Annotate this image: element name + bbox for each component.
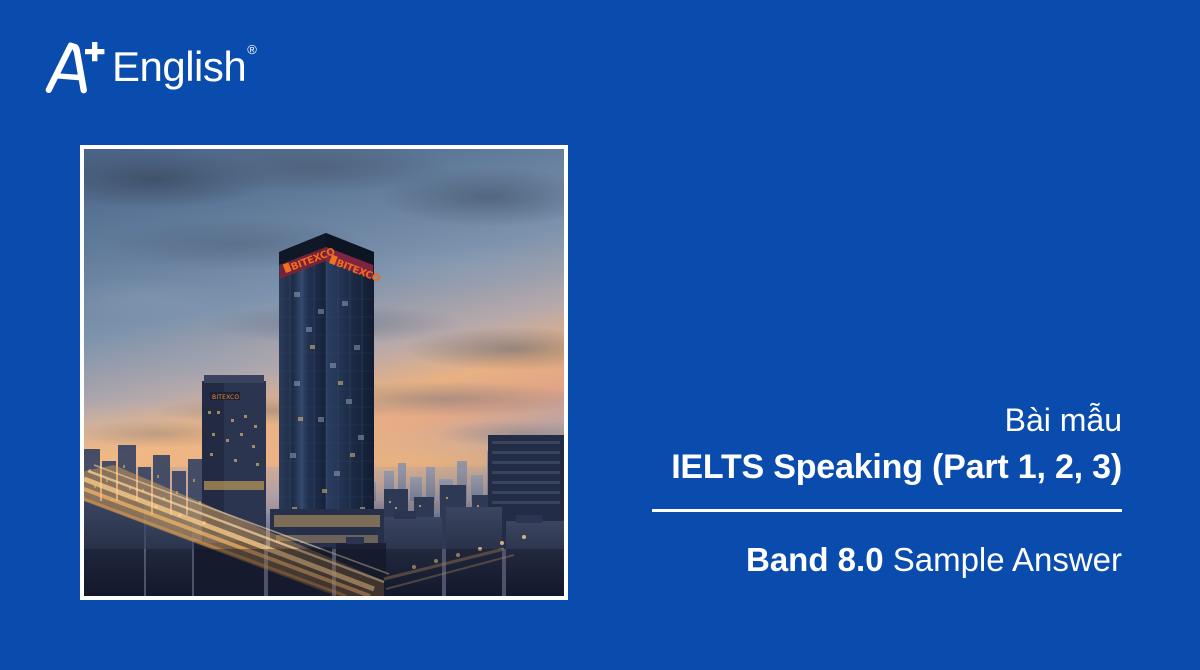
brand-logo[interactable]: English® [40,36,255,100]
svg-text:BITEXCO: BITEXCO [212,394,239,401]
page-title: IELTS Speaking (Part 1, 2, 3) [652,444,1122,490]
registered-trademark-icon: ® [247,42,256,57]
brand-wordmark-text: English [112,43,246,90]
main-tower: BITEXCO BITEXCO [270,233,384,549]
band-subtitle-rest: Sample Answer [884,541,1122,578]
a-plus-logo-icon [40,36,106,98]
eyebrow-text: Bài mẫu [652,398,1122,442]
photo-frame: BITEXCO [80,145,568,600]
promo-banner: English® [0,0,1200,670]
headline-block: Bài mẫu IELTS Speaking (Part 1, 2, 3) Ba… [652,398,1122,582]
band-subtitle: Band 8.0 Sample Answer [652,538,1122,582]
brand-wordmark: English® [112,36,255,98]
divider [652,509,1122,512]
band-score: Band 8.0 [746,541,884,578]
cityscape-photo: BITEXCO [84,149,564,596]
